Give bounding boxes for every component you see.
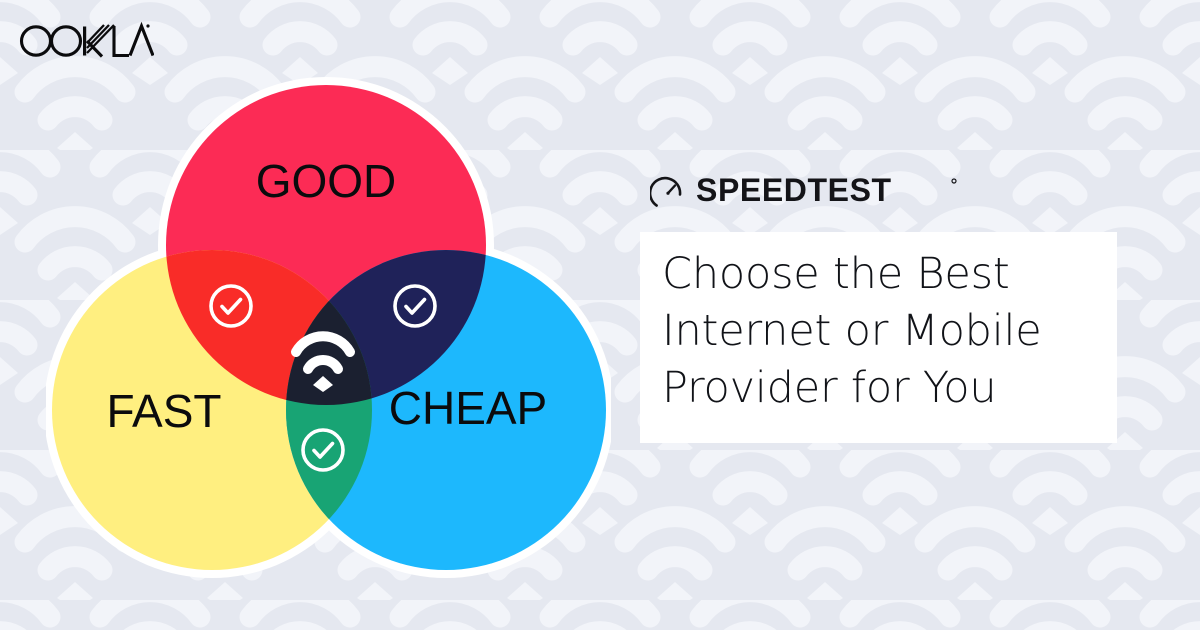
speedtest-wordmark: SPEEDTEST — [696, 172, 966, 210]
right-content-column: SPEEDTEST Choose the Best Internet or Mo… — [640, 168, 1120, 214]
venn-label-cheap: CHEAP — [389, 382, 547, 434]
registered-mark-icon — [146, 24, 149, 27]
speedometer-icon — [650, 174, 686, 210]
page-title: Choose the Best Internet or Mobile Provi… — [662, 246, 1102, 417]
ookla-logo — [18, 17, 154, 61]
poster-canvas: GOOD FAST CHEAP — [0, 0, 1200, 630]
svg-text:SPEEDTEST: SPEEDTEST — [696, 172, 892, 208]
speedtest-logo: SPEEDTEST — [650, 168, 1120, 214]
venn-label-good: GOOD — [256, 155, 397, 207]
venn-diagram: GOOD FAST CHEAP — [46, 60, 611, 580]
headline-card: Choose the Best Internet or Mobile Provi… — [640, 232, 1117, 443]
registered-mark-icon — [952, 179, 956, 183]
venn-label-fast: FAST — [106, 385, 221, 437]
ookla-k-glyph — [83, 25, 114, 57]
